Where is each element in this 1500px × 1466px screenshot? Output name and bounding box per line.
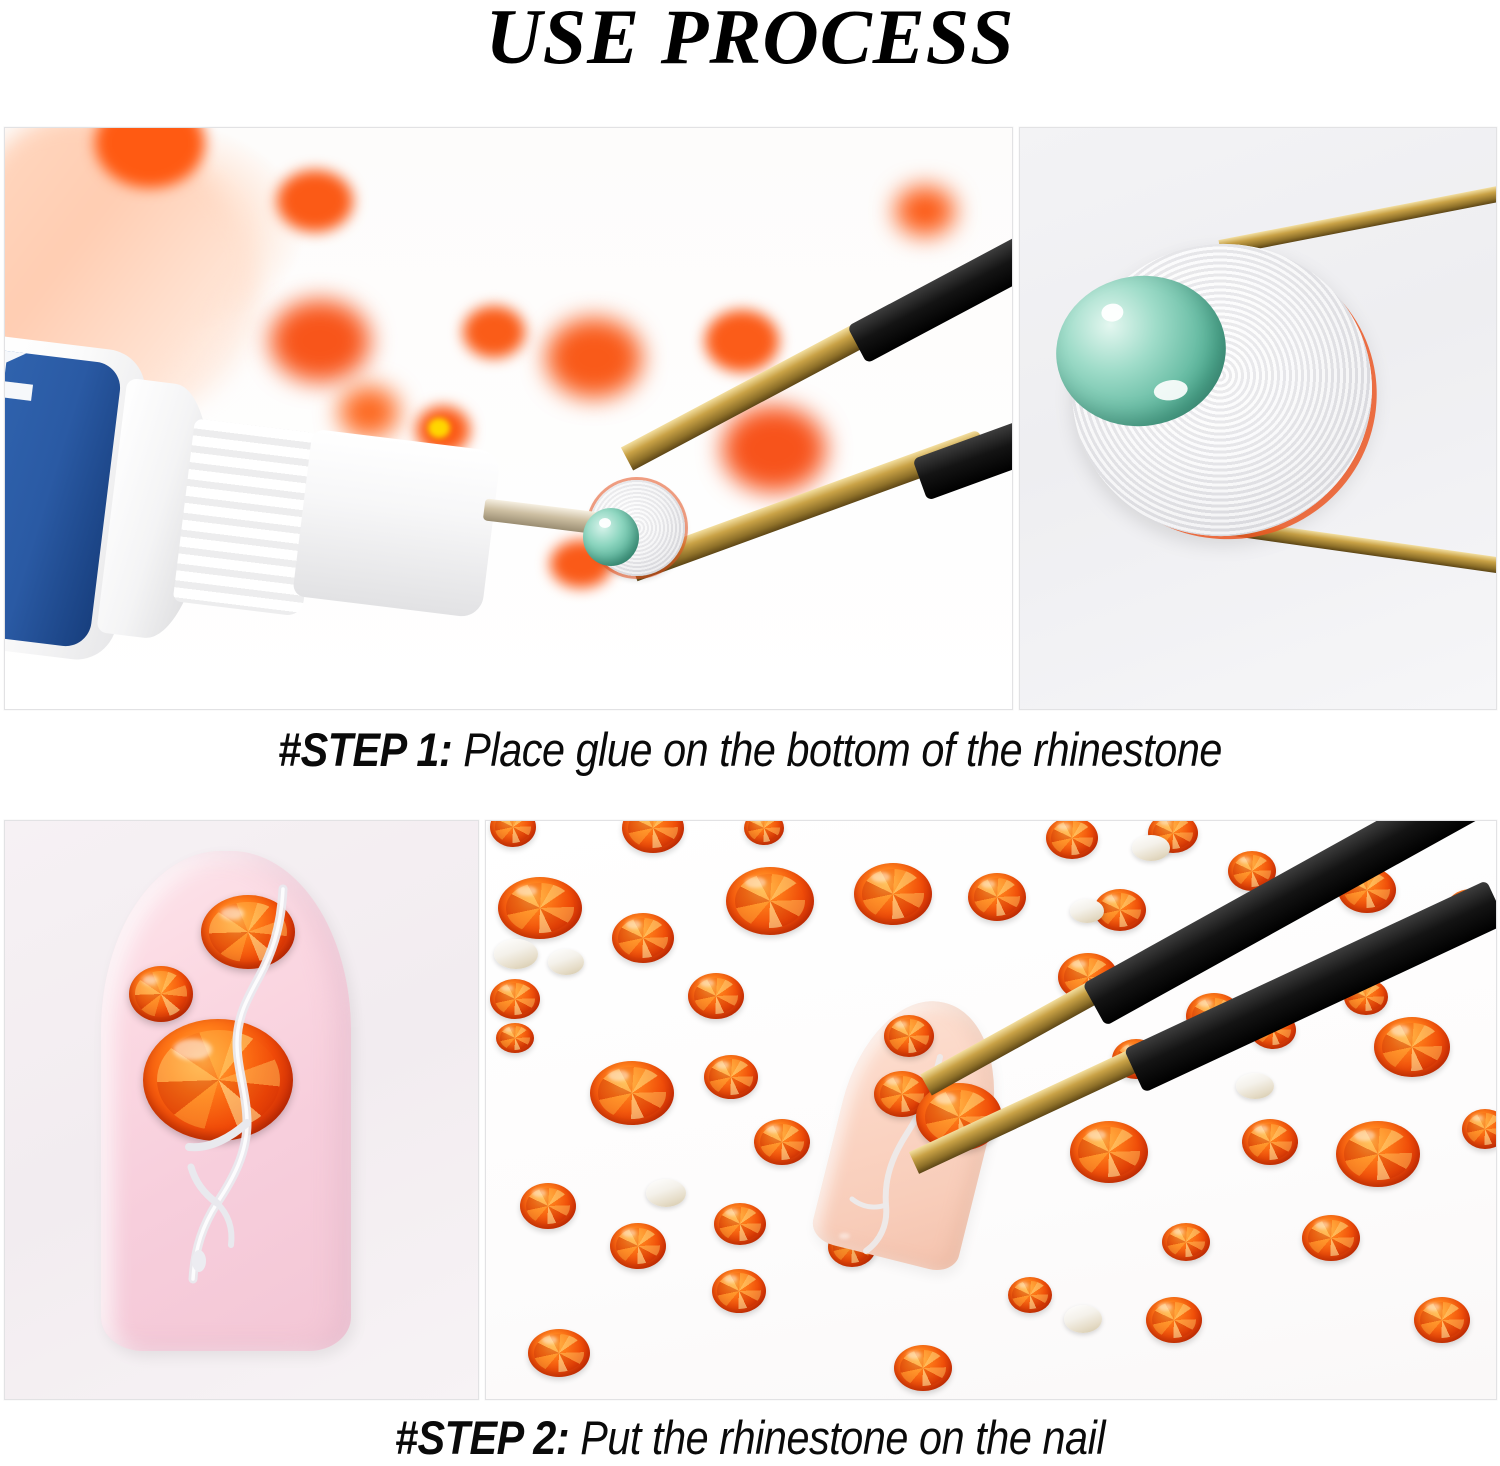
loose-rhinestone (744, 820, 784, 845)
step1-caption: #STEP 1: Place glue on the bottom of the… (90, 724, 1410, 776)
nail-rhinestone-top (201, 895, 295, 969)
rhinestone-on-nail (884, 1015, 934, 1057)
loose-rhinestone (498, 877, 582, 939)
background-rhinestone (463, 306, 525, 358)
loose-rhinestone (1414, 1297, 1470, 1343)
background-rhinestone (705, 310, 779, 372)
loose-rhinestone (1146, 1297, 1202, 1343)
photo-glue-applied-to-rhinestone: RP (4, 127, 1013, 710)
tweezer-lower-grip (912, 391, 1013, 501)
rhinestone-foil-back-up (1132, 835, 1170, 861)
loose-rhinestone (754, 1119, 810, 1165)
tweezer-upper-grip (847, 223, 1013, 363)
nail-rhinestone-small (129, 966, 193, 1022)
background-rhinestone (722, 406, 826, 492)
glue-bottle-cap (292, 429, 501, 619)
rhinestone-foil-back-up (1070, 899, 1104, 923)
background-rhinestone (546, 318, 642, 398)
rhinestone-foil-back-up (1236, 1073, 1274, 1099)
rhinestone-foil-back-up (494, 939, 538, 969)
nail-rhinestone-large (143, 1019, 293, 1141)
glue-droplet (583, 508, 639, 566)
step2-photo-row (4, 820, 1497, 1400)
rhinestone-foil-back-up (548, 949, 584, 975)
rhinestone-foil-back-up (1064, 1305, 1102, 1333)
page-title: USE PROCESS (0, 0, 1500, 78)
loose-rhinestone (1336, 1121, 1420, 1187)
photo-placing-rhinestone-with-tweezers (485, 820, 1497, 1400)
loose-rhinestone (1008, 1277, 1052, 1313)
loose-rhinestone (612, 913, 674, 963)
loose-rhinestone (854, 863, 932, 925)
step2-label: #STEP 2: (395, 1411, 569, 1464)
loose-rhinestone (528, 1329, 590, 1377)
step2-caption: #STEP 2: Put the rhinestone on the nail (90, 1412, 1410, 1464)
loose-rhinestone (496, 1023, 534, 1053)
loose-rhinestone (894, 1345, 952, 1391)
loose-rhinestone (1162, 1223, 1210, 1261)
loose-rhinestone (520, 1183, 576, 1229)
photo-finished-nail-with-rhinestones (4, 820, 479, 1400)
loose-rhinestone (1374, 1017, 1450, 1077)
rhinestone-foil-back-up (646, 1179, 686, 1207)
loose-rhinestone (490, 820, 536, 847)
loose-rhinestone (688, 973, 744, 1019)
loose-rhinestone (1070, 1121, 1148, 1183)
photo-rhinestone-back-closeup (1019, 127, 1497, 710)
background-rhinestone (277, 170, 353, 232)
loose-rhinestone (714, 1203, 766, 1245)
use-process-infographic: USE PROCESS (0, 0, 1500, 1466)
loose-rhinestone (1462, 1109, 1497, 1149)
loose-rhinestone (490, 979, 540, 1019)
loose-rhinestone (610, 1223, 666, 1269)
background-rhinestone (895, 186, 955, 236)
glue-bottle: RP (4, 312, 573, 710)
loose-rhinestone (704, 1055, 758, 1099)
loose-rhinestone (622, 820, 684, 853)
loose-rhinestone (726, 867, 814, 935)
step2-text: Put the rhinestone on the nail (569, 1411, 1105, 1464)
step1-text: Place glue on the bottom of the rhinesto… (452, 723, 1222, 776)
loose-rhinestone (1046, 820, 1098, 859)
step1-photo-row: RP (4, 127, 1497, 710)
loose-rhinestone (968, 873, 1026, 921)
step1-label: #STEP 1: (278, 723, 452, 776)
loose-rhinestone (1242, 1119, 1298, 1165)
loose-rhinestone (590, 1061, 674, 1125)
loose-rhinestone (1302, 1215, 1360, 1261)
loose-rhinestone (712, 1269, 766, 1313)
